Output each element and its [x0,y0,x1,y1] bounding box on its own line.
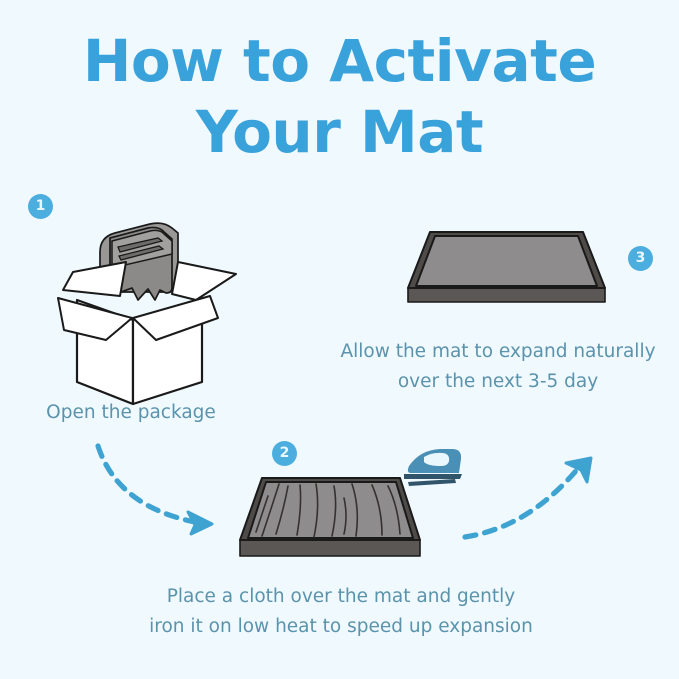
step-3-caption-line-1: Allow the mat to expand naturally [318,337,678,367]
cardboard-box-icon [58,223,236,404]
step-3-badge[interactable]: 3 [628,246,653,271]
iron-icon [404,449,462,486]
step-3-caption: Allow the mat to expand naturally over t… [318,337,678,397]
step-2-badge[interactable]: 2 [272,441,297,466]
step-1-badge[interactable]: 1 [28,194,53,219]
step-1-caption-line-1: Open the package [0,398,262,428]
arrow-step2-to-step3 [465,458,591,537]
mat-cloth-icon [240,478,420,556]
box-flap-rear-left [63,262,126,296]
arrow-step1-to-step2 [98,446,212,534]
step-2-caption-line-2: iron it on low heat to speed up expansio… [110,612,572,642]
step-2-caption-line-1: Place a cloth over the mat and gently [110,582,572,612]
mat-flat-icon [408,232,605,302]
step-3-caption-line-2: over the next 3-5 day [318,367,678,397]
step-1-caption: Open the package [0,398,262,428]
box-flap-rear-right [172,262,236,300]
infographic-root: How to Activate Your Mat [0,0,679,679]
step-2-caption: Place a cloth over the mat and gently ir… [110,582,572,642]
